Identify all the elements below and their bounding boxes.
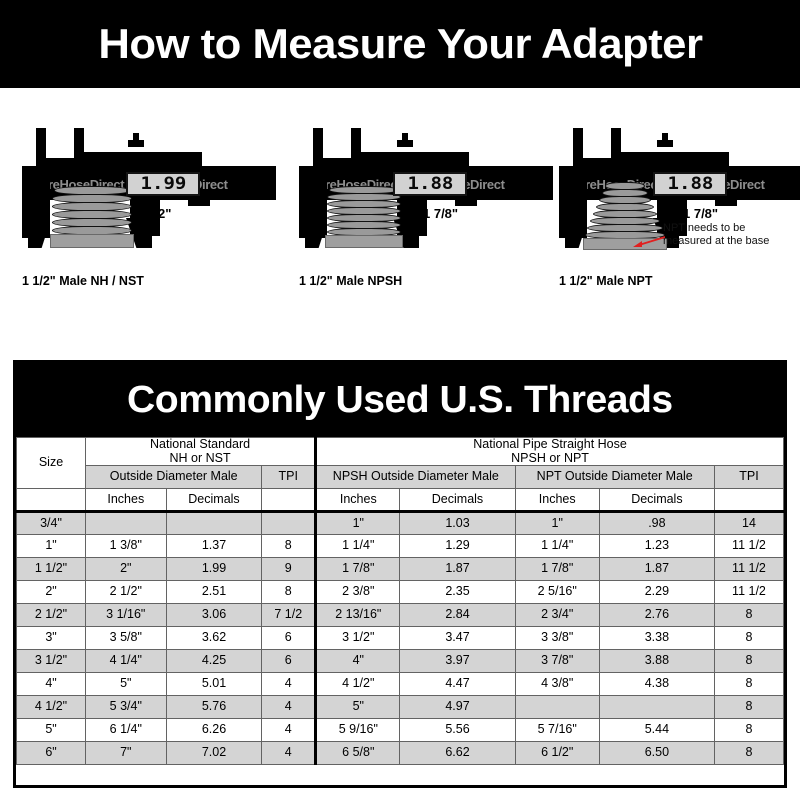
- cell-npsh-decimals: 4.47: [400, 673, 515, 696]
- cell-nh-inches: 1 3/8": [86, 535, 167, 558]
- caliper-beam-tail-icon: [715, 198, 737, 206]
- subheader-npt-od-male: NPT Outside Diameter Male: [515, 466, 714, 489]
- cell-size: 3": [17, 627, 86, 650]
- table-row: 1"1 3/8"1.3781 1/4"1.291 1/4"1.2311 1/2: [17, 535, 784, 558]
- unit-npsh-inches: Inches: [316, 489, 400, 512]
- diagram-panel-nh-nst: ☉FireHoseDirect ☉FireHoseDirect 1.99 2": [8, 88, 278, 356]
- dimension-label: 2": [158, 206, 171, 221]
- cell-npt-tpi: 8: [714, 742, 783, 765]
- cell-npt-tpi: 8: [714, 627, 783, 650]
- group-line-2: NPSH or NPT: [317, 452, 783, 466]
- unit-nh-tpi-blank: [262, 489, 316, 512]
- cell-size: 1": [17, 535, 86, 558]
- cell-npt-inches: 4 3/8": [515, 673, 599, 696]
- diagram-caption: 1 1/2" Male NPT: [559, 274, 652, 288]
- cell-npsh-inches: 5": [316, 696, 400, 719]
- header-group-national-standard: National Standard NH or NST: [86, 438, 316, 466]
- cell-size: 3/4": [17, 512, 86, 535]
- caliper-nh-nst: ☉FireHoseDirect ☉FireHoseDirect 1.99 2": [8, 122, 278, 272]
- caliper-lcd-display: 1.88: [393, 172, 467, 196]
- cell-npt-decimals: 1.87: [599, 558, 714, 581]
- cell-nh-inches: 2 1/2": [86, 581, 167, 604]
- cell-npt-inches: 2 3/4": [515, 604, 599, 627]
- diagram-panel-npsh: ☉FireHoseDirect ☉FireHoseDirect 1.88 1 7…: [285, 88, 555, 356]
- table-row: 3/4"1"1.031".9814: [17, 512, 784, 535]
- cell-npt-tpi: 11 1/2: [714, 558, 783, 581]
- unit-npt-inches: Inches: [515, 489, 599, 512]
- cell-npsh-decimals: 2.84: [400, 604, 515, 627]
- cell-size: 4 1/2": [17, 696, 86, 719]
- cell-npt-decimals: 2.29: [599, 581, 714, 604]
- diagram-caption: 1 1/2" Male NH / NST: [22, 274, 144, 288]
- npt-note-line-2: measured at the base: [663, 235, 769, 248]
- table-header-group-row: Size National Standard NH or NST Nationa…: [17, 438, 784, 466]
- cell-npsh-inches: 5 9/16": [316, 719, 400, 742]
- cell-npt-tpi: 8: [714, 673, 783, 696]
- table-row: 4"5"5.0144 1/2"4.474 3/8"4.388: [17, 673, 784, 696]
- cell-npsh-inches: 3 1/2": [316, 627, 400, 650]
- unit-nh-inches: Inches: [86, 489, 167, 512]
- npt-callout-arrow-icon: [633, 236, 665, 248]
- cell-nh-tpi: 8: [262, 535, 316, 558]
- caliper-lcd-display: 1.99: [126, 172, 200, 196]
- cell-nh-decimals: 3.06: [166, 604, 262, 627]
- cell-npt-decimals: 6.50: [599, 742, 714, 765]
- threads-table: Size National Standard NH or NST Nationa…: [16, 437, 784, 765]
- cell-npsh-decimals: 1.29: [400, 535, 515, 558]
- cell-nh-tpi: 4: [262, 719, 316, 742]
- group-line-1: National Pipe Straight Hose: [317, 438, 783, 452]
- cell-nh-decimals: 4.25: [166, 650, 262, 673]
- cell-npsh-inches: 1 7/8": [316, 558, 400, 581]
- cell-nh-inches: 3 5/8": [86, 627, 167, 650]
- table-subheader-row: Outside Diameter Male TPI NPSH Outside D…: [17, 466, 784, 489]
- table-body: 3/4"1"1.031".98141"1 3/8"1.3781 1/4"1.29…: [17, 512, 784, 765]
- cell-nh-decimals: 7.02: [166, 742, 262, 765]
- cell-npt-tpi: 8: [714, 719, 783, 742]
- table-row: 6"7"7.0246 5/8"6.626 1/2"6.508: [17, 742, 784, 765]
- cell-npsh-decimals: 4.97: [400, 696, 515, 719]
- cell-npt-inches: 1": [515, 512, 599, 535]
- header-size: Size: [17, 438, 86, 489]
- cell-npt-inches: 1 1/4": [515, 535, 599, 558]
- cell-npsh-inches: 2 3/8": [316, 581, 400, 604]
- cell-npt-tpi: 8: [714, 604, 783, 627]
- cell-npt-decimals: 5.44: [599, 719, 714, 742]
- cell-npsh-decimals: 3.47: [400, 627, 515, 650]
- cell-nh-decimals: [166, 512, 262, 535]
- cell-npt-inches: 5 7/16": [515, 719, 599, 742]
- subheader-nh-od-male: Outside Diameter Male: [86, 466, 262, 489]
- unit-size-blank: [17, 489, 86, 512]
- cell-npt-inches: 1 7/8": [515, 558, 599, 581]
- cell-npt-tpi: 11 1/2: [714, 535, 783, 558]
- cell-nh-inches: 5": [86, 673, 167, 696]
- cell-size: 3 1/2": [17, 650, 86, 673]
- table-row: 2 1/2"3 1/16"3.067 1/22 13/16"2.842 3/4"…: [17, 604, 784, 627]
- cell-nh-inches: 5 3/4": [86, 696, 167, 719]
- cell-npt-decimals: 3.88: [599, 650, 714, 673]
- cell-nh-tpi: 8: [262, 581, 316, 604]
- cell-npsh-inches: 2 13/16": [316, 604, 400, 627]
- cell-npt-inches: 3 3/8": [515, 627, 599, 650]
- fitting-nh-nst-icon: [50, 186, 134, 248]
- cell-npsh-inches: 6 5/8": [316, 742, 400, 765]
- cell-npt-tpi: 8: [714, 696, 783, 719]
- page-title: How to Measure Your Adapter: [98, 20, 702, 68]
- diagram-caption: 1 1/2" Male NPSH: [299, 274, 402, 288]
- cell-npt-inches: 2 5/16": [515, 581, 599, 604]
- group-line-2: NH or NST: [86, 452, 314, 466]
- cell-nh-inches: [86, 512, 167, 535]
- caliper-npt: ☉FireHoseDirect ☉FireHoseDirect 1.88: [545, 122, 800, 272]
- cell-nh-decimals: 5.76: [166, 696, 262, 719]
- caliper-thumb-screw-post-icon: [133, 133, 139, 142]
- unit-npt-tpi-blank: [714, 489, 783, 512]
- dimension-label: 1 7/8": [423, 206, 458, 221]
- cell-nh-tpi: 4: [262, 696, 316, 719]
- cell-size: 4": [17, 673, 86, 696]
- cell-npsh-inches: 4": [316, 650, 400, 673]
- cell-nh-inches: 2": [86, 558, 167, 581]
- cell-npsh-decimals: 3.97: [400, 650, 515, 673]
- cell-npsh-decimals: 1.03: [400, 512, 515, 535]
- unit-nh-decimals: Decimals: [166, 489, 262, 512]
- caliper-lcd-display: 1.88: [653, 172, 727, 196]
- cell-size: 2 1/2": [17, 604, 86, 627]
- cell-npt-inches: 6 1/2": [515, 742, 599, 765]
- cell-nh-tpi: 7 1/2: [262, 604, 316, 627]
- cell-npsh-inches: 1": [316, 512, 400, 535]
- table-row: 3 1/2"4 1/4"4.2564"3.973 7/8"3.888: [17, 650, 784, 673]
- subheader-npt-tpi: TPI: [714, 466, 783, 489]
- cell-nh-decimals: 1.37: [166, 535, 262, 558]
- table-row: 5"6 1/4"6.2645 9/16"5.565 7/16"5.448: [17, 719, 784, 742]
- unit-npt-decimals: Decimals: [599, 489, 714, 512]
- caliper-diagrams-section: FireHoseDirect ☉FireHoseDirect ☉FireHose…: [0, 88, 800, 356]
- cell-nh-tpi: 6: [262, 650, 316, 673]
- cell-nh-inches: 3 1/16": [86, 604, 167, 627]
- npt-callout-note: NPT needs to be measured at the base: [663, 222, 769, 249]
- cell-npt-tpi: 8: [714, 650, 783, 673]
- cell-nh-decimals: 5.01: [166, 673, 262, 696]
- cell-npt-decimals: [599, 696, 714, 719]
- group-line-1: National Standard: [86, 438, 314, 452]
- caliper-beam-tail-icon: [455, 198, 477, 206]
- threads-table-section: Commonly Used U.S. Threads Size National…: [13, 360, 787, 788]
- caliper-reading-value: 1.88: [667, 174, 713, 194]
- dimension-label: 1 7/8": [683, 206, 718, 221]
- cell-npt-tpi: 11 1/2: [714, 581, 783, 604]
- cell-nh-inches: 7": [86, 742, 167, 765]
- cell-npt-tpi: 14: [714, 512, 783, 535]
- cell-nh-inches: 4 1/4": [86, 650, 167, 673]
- fitting-npsh-icon: [325, 186, 403, 248]
- cell-npt-inches: 3 7/8": [515, 650, 599, 673]
- cell-npt-decimals: 4.38: [599, 673, 714, 696]
- cell-npsh-decimals: 5.56: [400, 719, 515, 742]
- cell-npt-decimals: 1.23: [599, 535, 714, 558]
- cell-size: 1 1/2": [17, 558, 86, 581]
- caliper-reading-value: 1.99: [140, 174, 186, 194]
- threads-banner: Commonly Used U.S. Threads: [16, 363, 784, 437]
- cell-npsh-inches: 1 1/4": [316, 535, 400, 558]
- threads-banner-title: Commonly Used U.S. Threads: [127, 379, 673, 422]
- caliper-thumb-screw-post-icon: [402, 133, 408, 142]
- table-unitheader-row: Inches Decimals Inches Decimals Inches D…: [17, 489, 784, 512]
- table-row: 4 1/2"5 3/4"5.7645"4.978: [17, 696, 784, 719]
- cell-nh-decimals: 1.99: [166, 558, 262, 581]
- cell-npt-decimals: 3.38: [599, 627, 714, 650]
- cell-npt-decimals: .98: [599, 512, 714, 535]
- cell-size: 6": [17, 742, 86, 765]
- cell-npsh-inches: 4 1/2": [316, 673, 400, 696]
- cell-size: 5": [17, 719, 86, 742]
- cell-npsh-decimals: 6.62: [400, 742, 515, 765]
- caliper-thumb-screw-post-icon: [662, 133, 668, 142]
- cell-npt-inches: [515, 696, 599, 719]
- cell-nh-tpi: [262, 512, 316, 535]
- cell-nh-tpi: 9: [262, 558, 316, 581]
- table-row: 1 1/2"2"1.9991 7/8"1.871 7/8"1.8711 1/2: [17, 558, 784, 581]
- table-row: 3"3 5/8"3.6263 1/2"3.473 3/8"3.388: [17, 627, 784, 650]
- caliper-npsh: ☉FireHoseDirect ☉FireHoseDirect 1.88 1 7…: [285, 122, 555, 272]
- cell-nh-decimals: 3.62: [166, 627, 262, 650]
- cell-npsh-decimals: 1.87: [400, 558, 515, 581]
- diagram-panel-npt: ☉FireHoseDirect ☉FireHoseDirect 1.88: [545, 88, 800, 356]
- cell-nh-decimals: 6.26: [166, 719, 262, 742]
- caliper-reading-value: 1.88: [407, 174, 453, 194]
- page-title-banner: How to Measure Your Adapter: [0, 0, 800, 88]
- cell-nh-tpi: 6: [262, 627, 316, 650]
- subheader-nh-tpi: TPI: [262, 466, 316, 489]
- unit-npsh-decimals: Decimals: [400, 489, 515, 512]
- cell-nh-tpi: 4: [262, 742, 316, 765]
- table-row: 2"2 1/2"2.5182 3/8"2.352 5/16"2.2911 1/2: [17, 581, 784, 604]
- cell-npt-decimals: 2.76: [599, 604, 714, 627]
- cell-npsh-decimals: 2.35: [400, 581, 515, 604]
- cell-nh-inches: 6 1/4": [86, 719, 167, 742]
- subheader-npsh-od-male: NPSH Outside Diameter Male: [316, 466, 515, 489]
- cell-nh-tpi: 4: [262, 673, 316, 696]
- npt-note-line-1: NPT needs to be: [663, 222, 769, 235]
- cell-size: 2": [17, 581, 86, 604]
- cell-nh-decimals: 2.51: [166, 581, 262, 604]
- header-group-npsh-npt: National Pipe Straight Hose NPSH or NPT: [316, 438, 784, 466]
- caliper-beam-tail-icon: [188, 198, 210, 206]
